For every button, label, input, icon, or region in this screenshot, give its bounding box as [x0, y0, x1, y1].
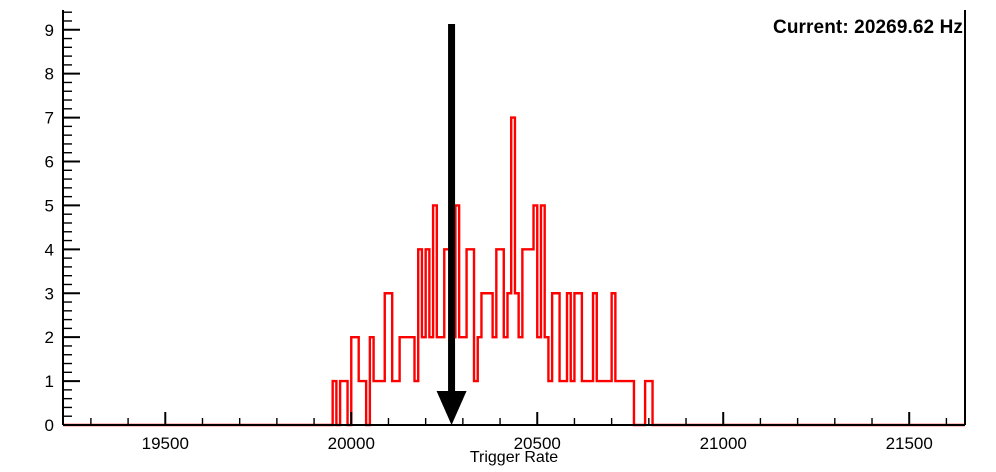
- histogram-series: [63, 118, 965, 425]
- y-tick-label: 6: [45, 153, 54, 172]
- current-rate-readout: Current: 20269.62 Hz: [773, 17, 963, 39]
- x-tick-label: 19500: [142, 434, 189, 453]
- x-axis-title: Trigger Rate: [470, 449, 558, 466]
- x-axis-ticks: [91, 412, 947, 425]
- histogram-outline: [63, 118, 965, 425]
- y-tick-label: 4: [45, 240, 54, 259]
- y-tick-label: 5: [45, 196, 54, 215]
- y-tick-label: 7: [45, 109, 54, 128]
- marker-arrowhead-icon: [437, 391, 467, 425]
- x-tick-label: 21000: [700, 434, 747, 453]
- x-tick-label: 21500: [886, 434, 933, 453]
- y-tick-label: 0: [45, 416, 54, 435]
- trigger-rate-histogram: 1950020000205002100021500 0123456789 Tri…: [0, 0, 996, 472]
- y-tick-label: 3: [45, 284, 54, 303]
- y-tick-label: 9: [45, 21, 54, 40]
- y-axis-tick-labels: 0123456789: [45, 21, 54, 435]
- current-rate-marker: [437, 24, 467, 425]
- chart-canvas: 1950020000205002100021500 0123456789 Tri…: [0, 0, 996, 472]
- x-tick-label: 20000: [328, 434, 375, 453]
- y-axis-ticks: [63, 12, 80, 425]
- y-tick-label: 8: [45, 65, 54, 84]
- y-tick-label: 1: [45, 372, 54, 391]
- y-tick-label: 2: [45, 328, 54, 347]
